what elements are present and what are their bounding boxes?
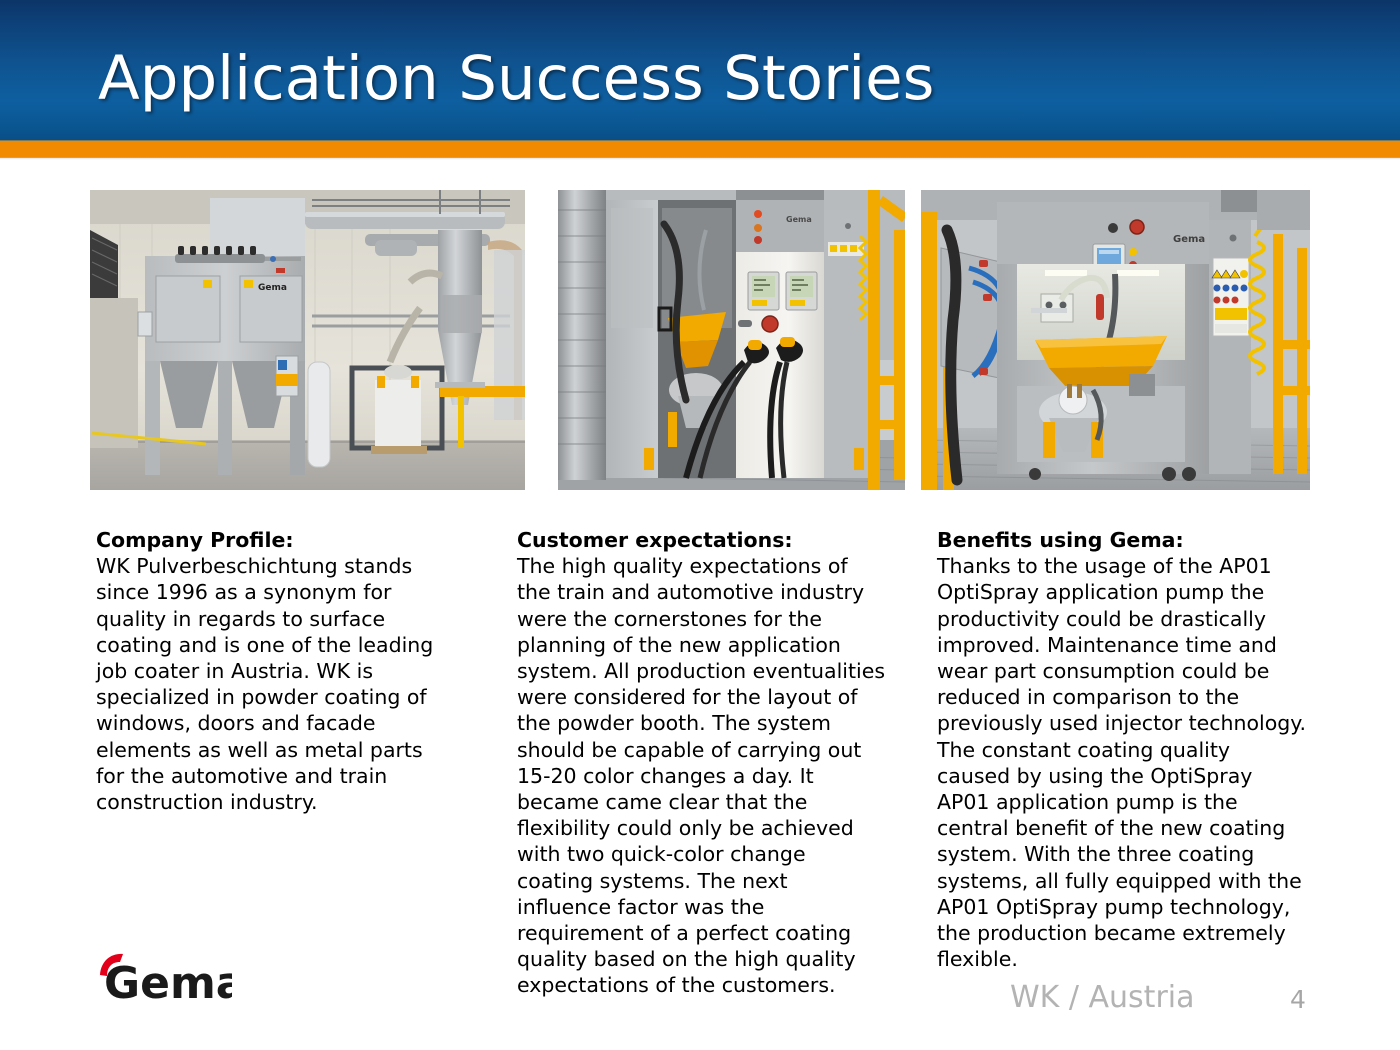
svg-text:Gema: Gema bbox=[786, 215, 812, 224]
photo-optispray-powder-center: Gema bbox=[921, 190, 1310, 490]
column-body-company-profile: WK Pulverbeschichtung stands since 1996 … bbox=[96, 553, 456, 815]
photo-control-cabinet-graphic: Gema bbox=[558, 190, 905, 490]
photo-control-cabinet-spray-guns: Gema bbox=[558, 190, 905, 490]
customer-country-label: WK / Austria bbox=[1010, 980, 1195, 1015]
photo-powder-center-graphic: Gema bbox=[921, 190, 1310, 490]
gema-logo-text: Gema bbox=[104, 958, 232, 1006]
gema-logo: Gema bbox=[92, 948, 232, 1006]
page-number: 4 bbox=[1290, 985, 1306, 1014]
text-column-company-profile: Company Profile: WK Pulverbeschichtung s… bbox=[96, 527, 456, 815]
column-body-customer-expectations: The high quality expectations of the tra… bbox=[517, 553, 887, 998]
photo-powder-booth-overview-graphic: Gema bbox=[90, 190, 525, 490]
column-heading-customer-expectations: Customer expectations: bbox=[517, 527, 887, 553]
gema-logo-graphic: Gema bbox=[92, 948, 232, 1006]
svg-text:Gema: Gema bbox=[258, 283, 287, 293]
svg-text:Gema: Gema bbox=[1173, 234, 1205, 245]
column-body-benefits-using-gema: Thanks to the usage of the AP01 OptiSpra… bbox=[937, 553, 1309, 972]
text-column-benefits-using-gema: Benefits using Gema: Thanks to the usage… bbox=[937, 527, 1309, 972]
text-column-customer-expectations: Customer expectations: The high quality … bbox=[517, 527, 887, 999]
column-heading-benefits-using-gema: Benefits using Gema: bbox=[937, 527, 1309, 553]
photo-powder-booth-overview: Gema bbox=[90, 190, 525, 490]
column-heading-company-profile: Company Profile: bbox=[96, 527, 456, 553]
